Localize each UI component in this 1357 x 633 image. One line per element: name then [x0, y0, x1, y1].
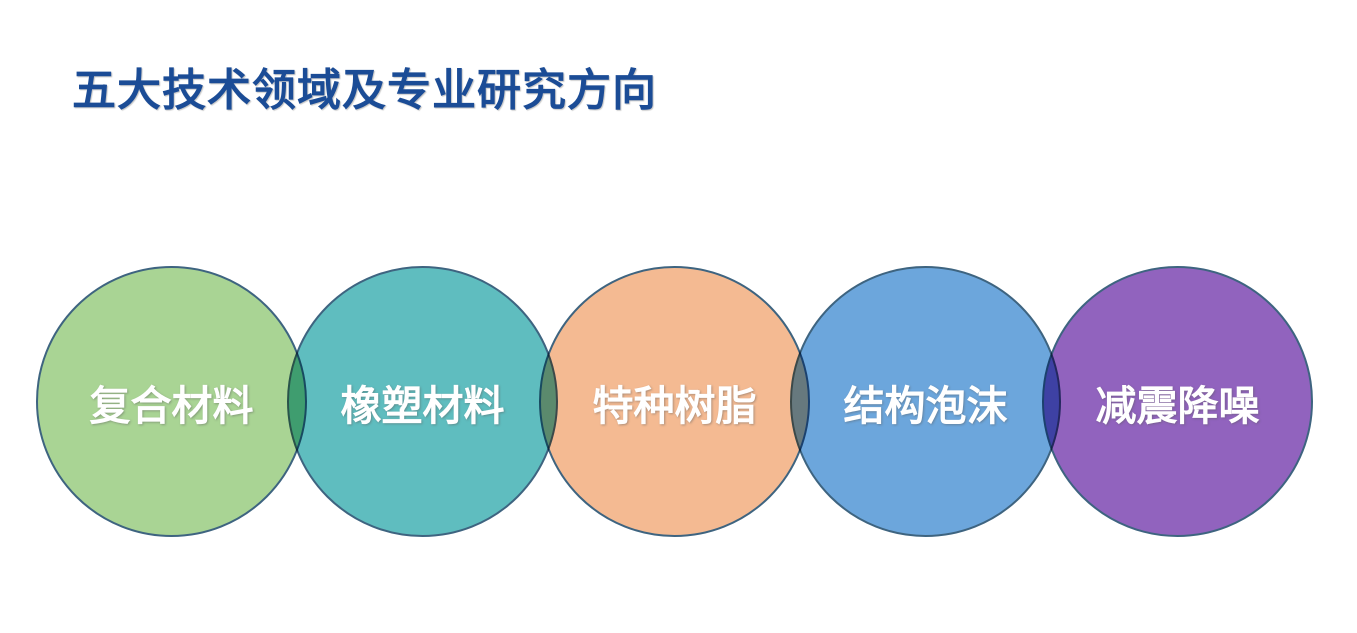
- slide-canvas: 五大技术领域及专业研究方向 复合材料 橡塑材料 特种树脂 结构泡沫 减震降噪: [0, 0, 1357, 633]
- venn-diagram: 复合材料 橡塑材料 特种树脂 结构泡沫 减震降噪: [0, 0, 1357, 633]
- venn-circle-special-resin[interactable]: [539, 266, 810, 537]
- venn-circle-vibration-noise[interactable]: [1042, 266, 1313, 537]
- venn-circle-rubber-plastic[interactable]: [287, 266, 558, 537]
- venn-circle-structural-foam[interactable]: [790, 266, 1061, 537]
- venn-circle-composite-materials[interactable]: [36, 266, 307, 537]
